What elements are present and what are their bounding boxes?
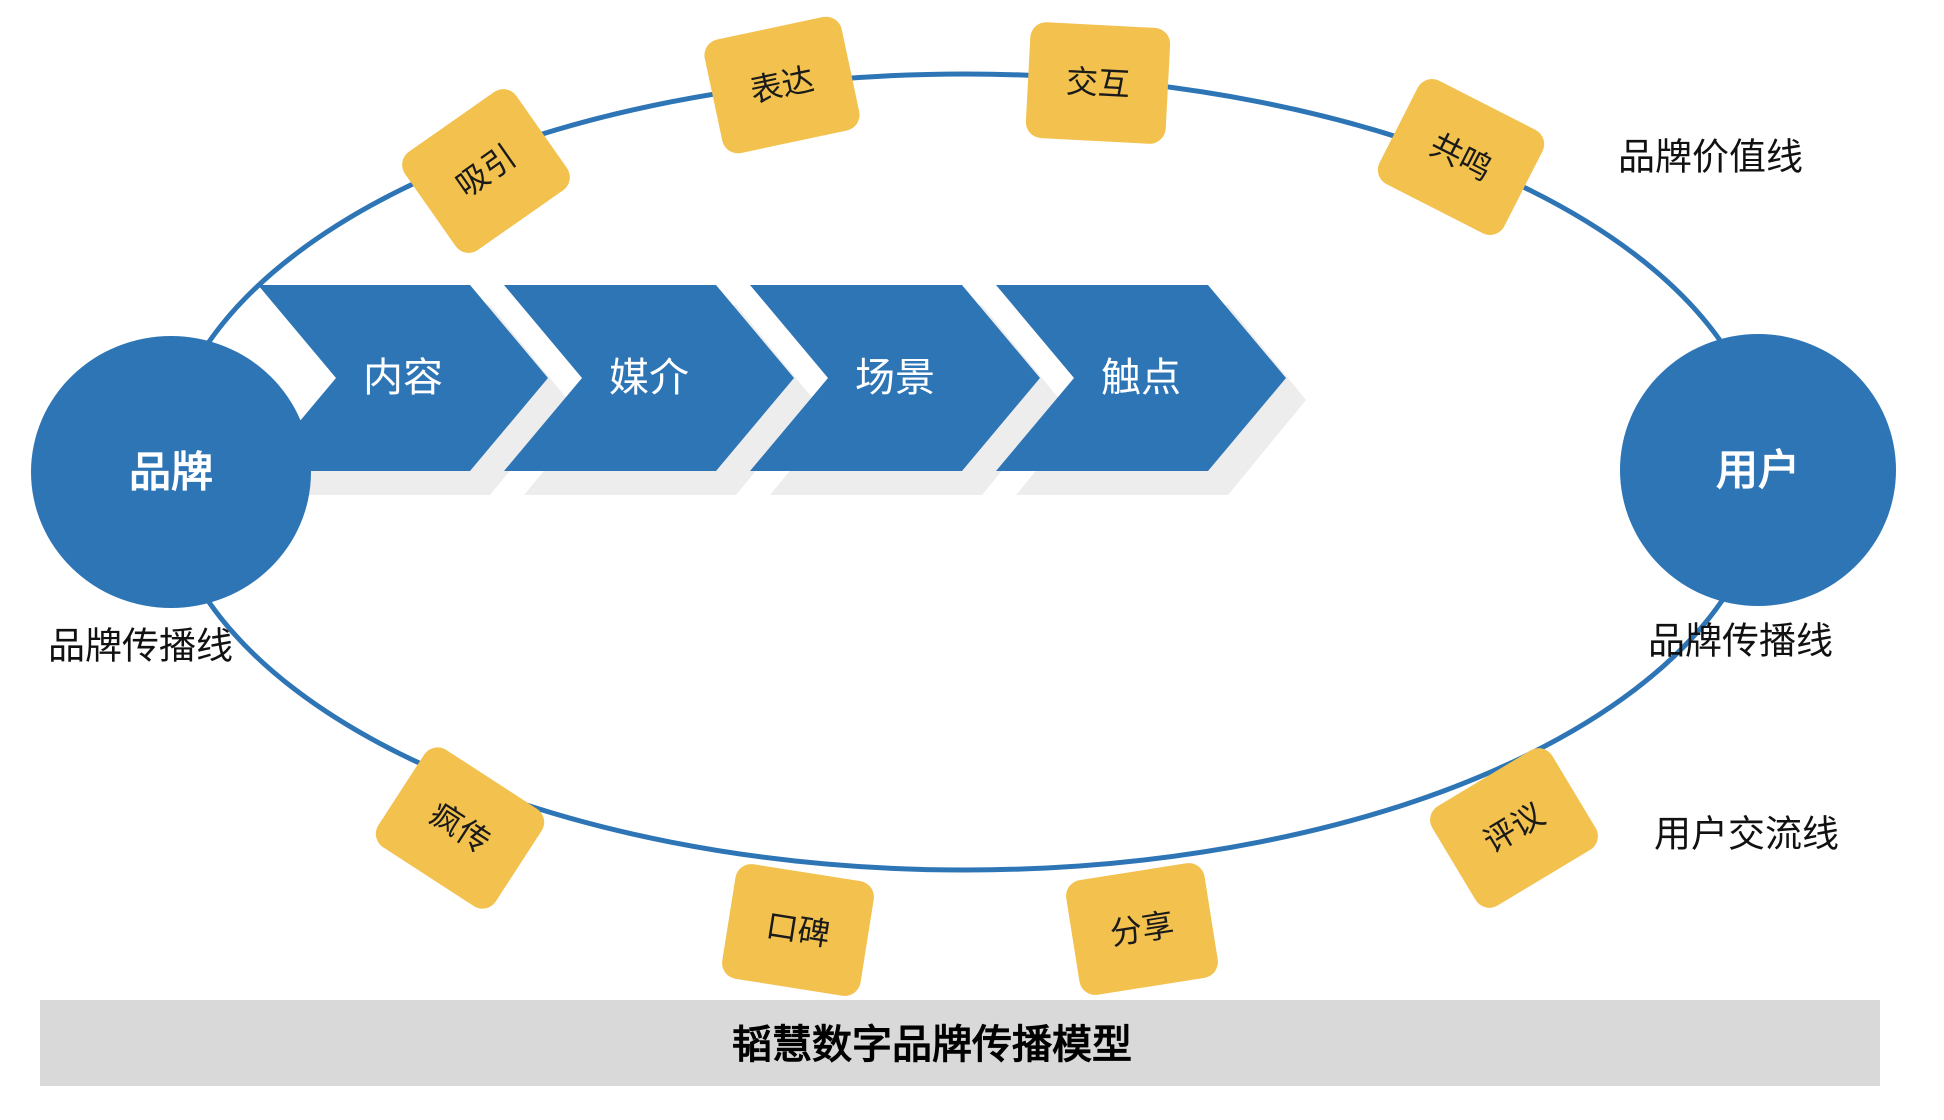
annotation-brand-comm-line-left: 品牌传播线 [48,626,233,667]
annotation-brand-value-line: 品牌价值线 [1618,137,1803,178]
top-arc-tag-resonate[interactable]: 共鸣 [1372,74,1549,241]
annotation-user-exchange-line: 用户交流线 [1654,814,1839,855]
process-step-label: 内容 [363,356,443,400]
footer-title-bar: 韬慧数字品牌传播模型 [40,1000,1880,1086]
footer-title-text: 韬慧数字品牌传播模型 [732,1023,1132,1067]
brand-label: 品牌 [129,449,213,496]
bottom-arc-tag-share[interactable]: 分享 [1064,861,1220,997]
top-arc-tag-interact[interactable]: 交互 [1025,21,1171,144]
bottom-arc-tag-viral[interactable]: 疯传 [370,741,551,915]
brand-communication-model-diagram: 内容 媒介 场景 触点 品牌 用户 [0,0,1944,1120]
process-step-label: 媒介 [609,356,689,400]
annotation-brand-comm-line-right: 品牌传播线 [1648,621,1833,662]
process-step-label: 场景 [855,356,935,400]
bottom-arc-tag-word-of-mouth[interactable]: 口碑 [720,862,876,998]
top-arc-tag-express[interactable]: 表达 [701,14,862,157]
tag-label: 交互 [1065,63,1131,102]
diagram-canvas: 内容 媒介 场景 触点 品牌 用户 [0,0,1944,1120]
bottom-arc-tag-comment[interactable]: 评议 [1424,742,1604,914]
endpoint-user[interactable]: 用户 [1620,334,1896,606]
top-arc-tag-attract[interactable]: 吸引 [396,83,576,259]
user-label: 用户 [1716,447,1800,494]
endpoint-brand[interactable]: 品牌 [31,336,311,608]
process-step-label: 触点 [1101,356,1181,400]
